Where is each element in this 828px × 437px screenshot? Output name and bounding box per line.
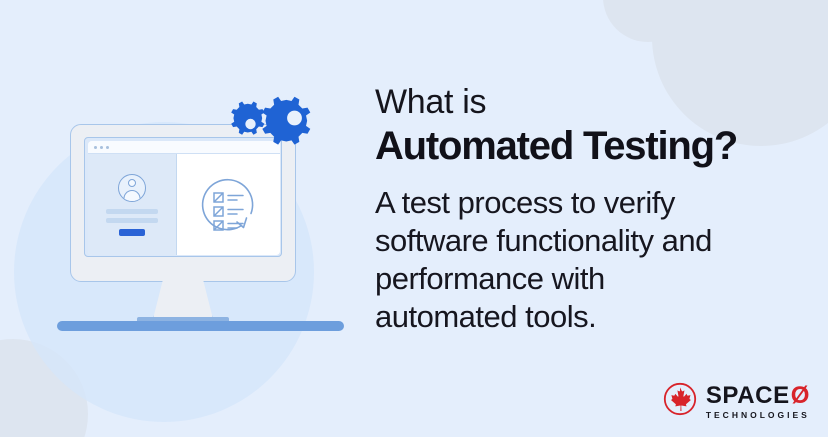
brand-logo: SPACE Ø TECHNOLOGIES xyxy=(663,382,810,421)
desk-surface-bar xyxy=(57,321,344,331)
logo-tagline: TECHNOLOGIES xyxy=(706,411,810,420)
avatar-shoulders xyxy=(124,190,141,202)
gear-small-icon xyxy=(231,102,264,135)
avatar-head xyxy=(128,179,136,187)
canada-maple-leaf-icon xyxy=(663,382,697,421)
illustration-monitor xyxy=(52,92,352,352)
monitor-stand-neck xyxy=(153,281,213,319)
user-avatar-icon xyxy=(118,174,146,202)
text-block: What is Automated Testing? A test proces… xyxy=(375,82,815,336)
gears-group xyxy=(230,92,322,154)
test-results-panel xyxy=(177,154,280,255)
description-text: A test process to verify software functi… xyxy=(375,184,815,336)
logo-wordmark-space: SPACE xyxy=(706,384,790,408)
browser-window xyxy=(88,141,280,255)
form-field-bar xyxy=(106,218,158,223)
titlebar-dot-icon xyxy=(106,146,109,149)
logo-wordmark: SPACE Ø xyxy=(706,384,810,408)
monitor-screen xyxy=(84,137,282,257)
page-title: Automated Testing? xyxy=(375,122,815,170)
background-circle-top-right-small xyxy=(603,0,693,42)
titlebar-dot-icon xyxy=(100,146,103,149)
gear-small-hole xyxy=(245,119,255,129)
gear-large-hole xyxy=(287,111,302,126)
gear-large-icon xyxy=(262,97,310,145)
login-panel xyxy=(88,154,177,255)
banner: What is Automated Testing? A test proces… xyxy=(0,0,828,437)
submit-button xyxy=(119,229,145,236)
logo-oslash-symbol: Ø xyxy=(791,384,810,408)
logo-text: SPACE Ø TECHNOLOGIES xyxy=(706,384,810,420)
eyebrow-text: What is xyxy=(375,82,815,122)
titlebar-dot-icon xyxy=(94,146,97,149)
circular-arrow-checklist-icon xyxy=(193,169,265,241)
browser-content xyxy=(88,154,280,255)
form-field-bar xyxy=(106,209,158,214)
